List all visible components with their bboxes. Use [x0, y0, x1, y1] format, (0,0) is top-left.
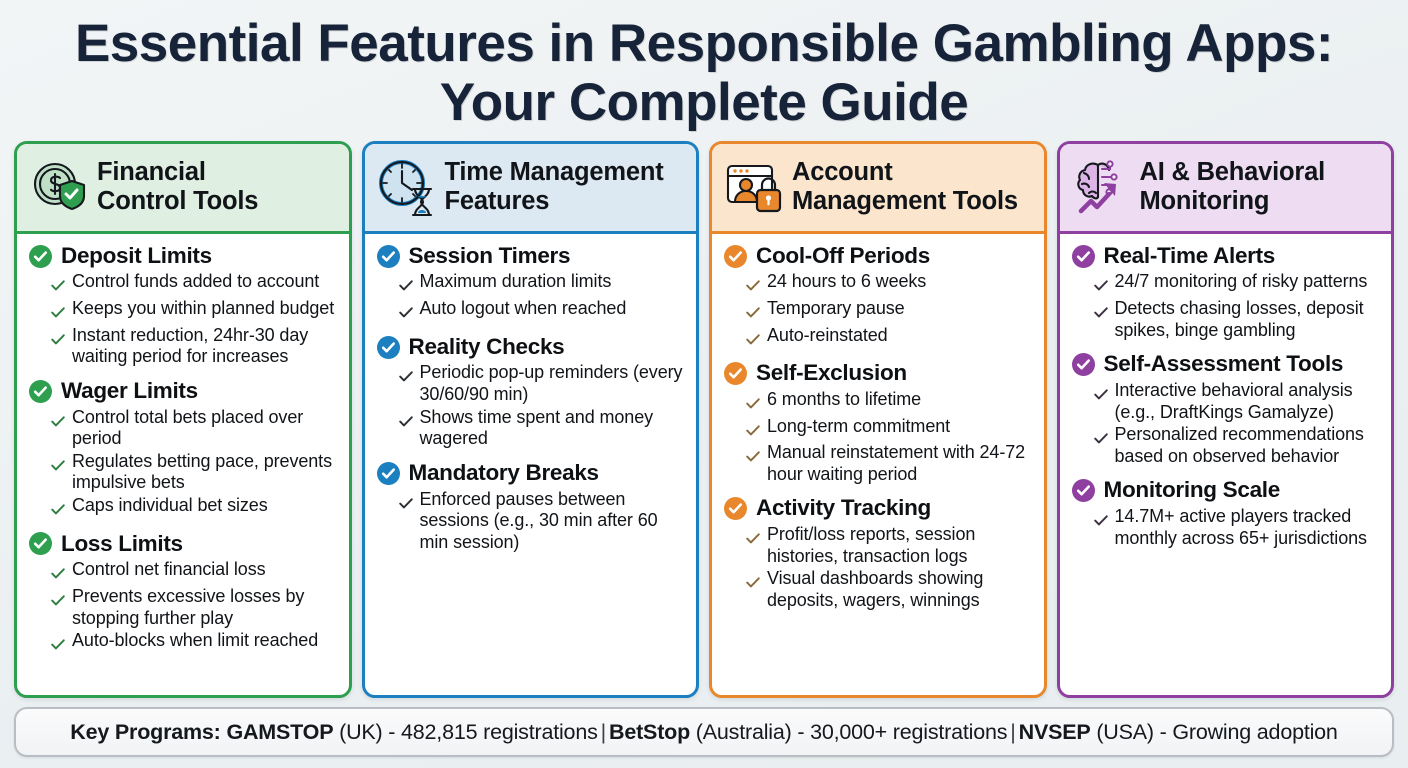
feature-point-text: Manual reinstatement with 24-72 hour wai… — [767, 442, 1034, 485]
check-icon — [1094, 510, 1108, 532]
check-icon — [399, 366, 413, 388]
feature-point-text: Regulates betting pace, prevents impulsi… — [72, 451, 339, 494]
feature-point: Auto-reinstated — [746, 325, 1034, 351]
card-title-financial-control-tools: FinancialControl Tools — [97, 158, 258, 216]
program-name: NVSEP — [1019, 720, 1091, 744]
feature-group-header: Deposit Limits — [29, 244, 339, 269]
check-icon — [1094, 428, 1108, 450]
coin-shield-icon — [29, 157, 89, 217]
check-circle-icon — [29, 532, 52, 555]
feature-group: Self-Assessment ToolsInteractive behavio… — [1072, 352, 1382, 467]
feature-point: Visual dashboards showing deposits, wage… — [746, 568, 1034, 611]
feature-point-text: Auto-reinstated — [767, 325, 888, 347]
check-circle-icon — [724, 245, 747, 268]
feature-group-header: Real-Time Alerts — [1072, 244, 1382, 269]
feature-point-list: Periodic pop-up reminders (every 30/60/9… — [377, 362, 687, 449]
feature-point: Maximum duration limits — [399, 271, 687, 297]
check-icon — [51, 563, 65, 585]
feature-point-text: Control funds added to account — [72, 271, 319, 293]
feature-group-title: Self-Assessment Tools — [1104, 352, 1344, 377]
check-icon — [746, 393, 760, 415]
feature-point-text: 6 months to lifetime — [767, 389, 921, 411]
feature-point-text: Shows time spent and money wagered — [420, 407, 687, 450]
check-circle-icon — [377, 462, 400, 485]
check-icon — [51, 455, 65, 477]
feature-point: Manual reinstatement with 24-72 hour wai… — [746, 442, 1034, 485]
feature-point: Keeps you within planned budget — [51, 298, 339, 324]
page-title: Essential Features in Responsible Gambli… — [0, 0, 1408, 141]
feature-point: Enforced pauses between sessions (e.g., … — [399, 489, 687, 554]
infographic-root: Essential Features in Responsible Gambli… — [0, 0, 1408, 768]
program-detail: (UK) - 482,815 registrations — [333, 720, 597, 744]
feature-group-header: Cool-Off Periods — [724, 244, 1034, 269]
card-title-line1: Financial — [97, 158, 206, 186]
feature-point-text: Auto-blocks when limit reached — [72, 630, 318, 652]
check-circle-icon — [724, 362, 747, 385]
check-icon — [1094, 384, 1108, 406]
page-title-line1: Essential Features in Responsible Gambli… — [75, 14, 1333, 73]
feature-group: Session TimersMaximum duration limitsAut… — [377, 244, 687, 324]
feature-point: Auto-blocks when limit reached — [51, 630, 339, 656]
feature-point-text: Maximum duration limits — [420, 271, 612, 293]
key-programs-text: Key Programs: GAMSTOP (UK) - 482,815 reg… — [70, 720, 1337, 745]
key-programs-banner: Key Programs: GAMSTOP (UK) - 482,815 reg… — [14, 707, 1394, 757]
feature-point: Control funds added to account — [51, 271, 339, 297]
footer-separator: | — [1007, 720, 1018, 744]
feature-group: Self-Exclusion6 months to lifetimeLong-t… — [724, 361, 1034, 485]
feature-point-list: 14.7M+ active players tracked monthly ac… — [1072, 506, 1382, 549]
feature-point-list: Interactive behavioral analysis (e.g., D… — [1072, 380, 1382, 467]
feature-point: 24 hours to 6 weeks — [746, 271, 1034, 297]
feature-point-list: Control total bets placed over periodReg… — [29, 407, 339, 521]
feature-point-text: Personalized recommendations based on ob… — [1115, 424, 1382, 467]
card-title-account-management-tools: AccountManagement Tools — [792, 158, 1018, 216]
check-circle-icon — [377, 245, 400, 268]
feature-point-text: 24/7 monitoring of risky patterns — [1115, 271, 1368, 293]
feature-group: Reality ChecksPeriodic pop-up reminders … — [377, 335, 687, 450]
feature-point-text: Long-term commitment — [767, 416, 950, 438]
check-circle-icon — [1072, 245, 1095, 268]
card-header-time-management-features: Time ManagementFeatures — [365, 144, 697, 234]
program-detail: (Australia) - 30,000+ registrations — [690, 720, 1007, 744]
feature-point: 14.7M+ active players tracked monthly ac… — [1094, 506, 1382, 549]
check-icon — [51, 634, 65, 656]
feature-point-list: Enforced pauses between sessions (e.g., … — [377, 489, 687, 554]
feature-group-title: Deposit Limits — [61, 244, 212, 269]
feature-group-header: Self-Exclusion — [724, 361, 1034, 386]
feature-point: Prevents excessive losses by stopping fu… — [51, 586, 339, 629]
feature-point-list: Profit/loss reports, session histories, … — [724, 524, 1034, 611]
feature-point-text: Keeps you within planned budget — [72, 298, 334, 320]
brain-circuit-arrow-icon — [1072, 157, 1132, 217]
feature-point-list: Control funds added to accountKeeps you … — [29, 271, 339, 367]
check-icon — [399, 411, 413, 433]
feature-group-header: Monitoring Scale — [1072, 478, 1382, 503]
feature-card-account-management-tools: AccountManagement ToolsCool-Off Periods2… — [709, 141, 1047, 698]
check-icon — [399, 275, 413, 297]
feature-point-text: Interactive behavioral analysis (e.g., D… — [1115, 380, 1382, 423]
feature-point-list: 6 months to lifetimeLong-term commitment… — [724, 389, 1034, 485]
feature-point-text: Control total bets placed over period — [72, 407, 339, 450]
feature-point: Regulates betting pace, prevents impulsi… — [51, 451, 339, 494]
feature-group-header: Mandatory Breaks — [377, 461, 687, 486]
check-circle-icon — [724, 497, 747, 520]
card-header-account-management-tools: AccountManagement Tools — [712, 144, 1044, 234]
feature-point-text: Profit/loss reports, session histories, … — [767, 524, 1034, 567]
feature-group-header: Loss Limits — [29, 532, 339, 557]
feature-group-header: Wager Limits — [29, 379, 339, 404]
check-icon — [51, 590, 65, 612]
feature-point: Profit/loss reports, session histories, … — [746, 524, 1034, 567]
feature-point: Shows time spent and money wagered — [399, 407, 687, 450]
feature-group-title: Activity Tracking — [756, 496, 931, 521]
check-icon — [399, 302, 413, 324]
feature-point-text: Temporary pause — [767, 298, 905, 320]
feature-group-title: Mandatory Breaks — [409, 461, 599, 486]
feature-card-ai-behavioral-monitoring: AI & BehavioralMonitoringReal-Time Alert… — [1057, 141, 1395, 698]
feature-point: Control net financial loss — [51, 559, 339, 585]
feature-point-text: 14.7M+ active players tracked monthly ac… — [1115, 506, 1382, 549]
card-body-ai-behavioral-monitoring: Real-Time Alerts24/7 monitoring of risky… — [1060, 234, 1392, 695]
feature-point-text: Prevents excessive losses by stopping fu… — [72, 586, 339, 629]
card-body-financial-control-tools: Deposit LimitsControl funds added to acc… — [17, 234, 349, 695]
feature-point: 24/7 monitoring of risky patterns — [1094, 271, 1382, 297]
card-title-time-management-features: Time ManagementFeatures — [445, 158, 664, 216]
footer-separator: | — [598, 720, 609, 744]
check-icon — [51, 275, 65, 297]
program-detail: (USA) - Growing adoption — [1091, 720, 1338, 744]
feature-group: Real-Time Alerts24/7 monitoring of risky… — [1072, 244, 1382, 342]
feature-point-text: Detects chasing losses, deposit spikes, … — [1115, 298, 1382, 341]
feature-group-title: Loss Limits — [61, 532, 183, 557]
feature-group-header: Reality Checks — [377, 335, 687, 360]
card-title-line1: AI & Behavioral — [1140, 158, 1325, 186]
feature-point-text: 24 hours to 6 weeks — [767, 271, 926, 293]
feature-group: Cool-Off Periods24 hours to 6 weeksTempo… — [724, 244, 1034, 351]
feature-point-list: Control net financial lossPrevents exces… — [29, 559, 339, 655]
feature-group-header: Session Timers — [377, 244, 687, 269]
check-circle-icon — [29, 380, 52, 403]
feature-group-title: Real-Time Alerts — [1104, 244, 1276, 269]
feature-point: Detects chasing losses, deposit spikes, … — [1094, 298, 1382, 341]
key-programs-label: Key Programs: — [70, 720, 220, 744]
check-icon — [51, 499, 65, 521]
check-icon — [746, 275, 760, 297]
feature-point: Instant reduction, 24hr-30 day waiting p… — [51, 325, 339, 368]
feature-point: Interactive behavioral analysis (e.g., D… — [1094, 380, 1382, 423]
check-icon — [746, 572, 760, 594]
feature-group-title: Monitoring Scale — [1104, 478, 1280, 503]
program-name: BetStop — [609, 720, 690, 744]
feature-group: Monitoring Scale14.7M+ active players tr… — [1072, 478, 1382, 549]
card-title-line2: Monitoring — [1140, 187, 1270, 215]
feature-point-list: 24 hours to 6 weeksTemporary pauseAuto-r… — [724, 271, 1034, 350]
feature-point-text: Enforced pauses between sessions (e.g., … — [420, 489, 687, 554]
program-name: GAMSTOP — [226, 720, 333, 744]
check-circle-icon — [1072, 479, 1095, 502]
feature-group-title: Wager Limits — [61, 379, 198, 404]
card-body-time-management-features: Session TimersMaximum duration limitsAut… — [365, 234, 697, 695]
check-icon — [746, 446, 760, 468]
feature-point-text: Auto logout when reached — [420, 298, 627, 320]
feature-point-list: Maximum duration limitsAuto logout when … — [377, 271, 687, 323]
card-title-line2: Management Tools — [792, 187, 1018, 215]
feature-group-title: Reality Checks — [409, 335, 565, 360]
check-icon — [1094, 275, 1108, 297]
feature-group-title: Self-Exclusion — [756, 361, 907, 386]
check-icon — [51, 302, 65, 324]
feature-point-text: Visual dashboards showing deposits, wage… — [767, 568, 1034, 611]
feature-point-text: Control net financial loss — [72, 559, 266, 581]
feature-point: Periodic pop-up reminders (every 30/60/9… — [399, 362, 687, 405]
check-icon — [51, 329, 65, 351]
check-icon — [1094, 302, 1108, 324]
feature-group: Activity TrackingProfit/loss reports, se… — [724, 496, 1034, 611]
feature-group: Mandatory BreaksEnforced pauses between … — [377, 461, 687, 554]
check-icon — [399, 493, 413, 515]
feature-group: Wager LimitsControl total bets placed ov… — [29, 379, 339, 521]
feature-point-text: Instant reduction, 24hr-30 day waiting p… — [72, 325, 339, 368]
card-title-line2: Control Tools — [97, 187, 258, 215]
feature-point-list: 24/7 monitoring of risky patternsDetects… — [1072, 271, 1382, 341]
browser-user-lock-icon — [724, 157, 784, 217]
feature-point-text: Periodic pop-up reminders (every 30/60/9… — [420, 362, 687, 405]
feature-group: Loss LimitsControl net financial lossPre… — [29, 532, 339, 656]
feature-point: Control total bets placed over period — [51, 407, 339, 450]
feature-card-financial-control-tools: FinancialControl ToolsDeposit LimitsCont… — [14, 141, 352, 698]
check-icon — [51, 411, 65, 433]
feature-group-header: Self-Assessment Tools — [1072, 352, 1382, 377]
feature-point: Personalized recommendations based on ob… — [1094, 424, 1382, 467]
check-circle-icon — [29, 245, 52, 268]
card-title-line1: Account — [792, 158, 893, 186]
page-title-line2: Your Complete Guide — [440, 73, 968, 132]
feature-point: Auto logout when reached — [399, 298, 687, 324]
clock-hourglass-icon — [377, 157, 437, 217]
feature-point-text: Caps individual bet sizes — [72, 495, 268, 517]
feature-group-title: Session Timers — [409, 244, 571, 269]
feature-point: Temporary pause — [746, 298, 1034, 324]
feature-group: Deposit LimitsControl funds added to acc… — [29, 244, 339, 368]
feature-point: 6 months to lifetime — [746, 389, 1034, 415]
footer-wrap: Key Programs: GAMSTOP (UK) - 482,815 reg… — [0, 698, 1408, 768]
check-circle-icon — [1072, 353, 1095, 376]
feature-group-header: Activity Tracking — [724, 496, 1034, 521]
card-header-ai-behavioral-monitoring: AI & BehavioralMonitoring — [1060, 144, 1392, 234]
check-icon — [746, 302, 760, 324]
card-body-account-management-tools: Cool-Off Periods24 hours to 6 weeksTempo… — [712, 234, 1044, 695]
card-title-line1: Time Management — [445, 158, 664, 186]
feature-card-time-management-features: Time ManagementFeaturesSession TimersMax… — [362, 141, 700, 698]
feature-columns: FinancialControl ToolsDeposit LimitsCont… — [0, 141, 1408, 698]
check-icon — [746, 528, 760, 550]
check-icon — [746, 329, 760, 351]
check-circle-icon — [377, 336, 400, 359]
feature-group-title: Cool-Off Periods — [756, 244, 930, 269]
card-title-ai-behavioral-monitoring: AI & BehavioralMonitoring — [1140, 158, 1325, 216]
check-icon — [746, 420, 760, 442]
card-title-line2: Features — [445, 187, 550, 215]
feature-point: Caps individual bet sizes — [51, 495, 339, 521]
card-header-financial-control-tools: FinancialControl Tools — [17, 144, 349, 234]
feature-point: Long-term commitment — [746, 416, 1034, 442]
